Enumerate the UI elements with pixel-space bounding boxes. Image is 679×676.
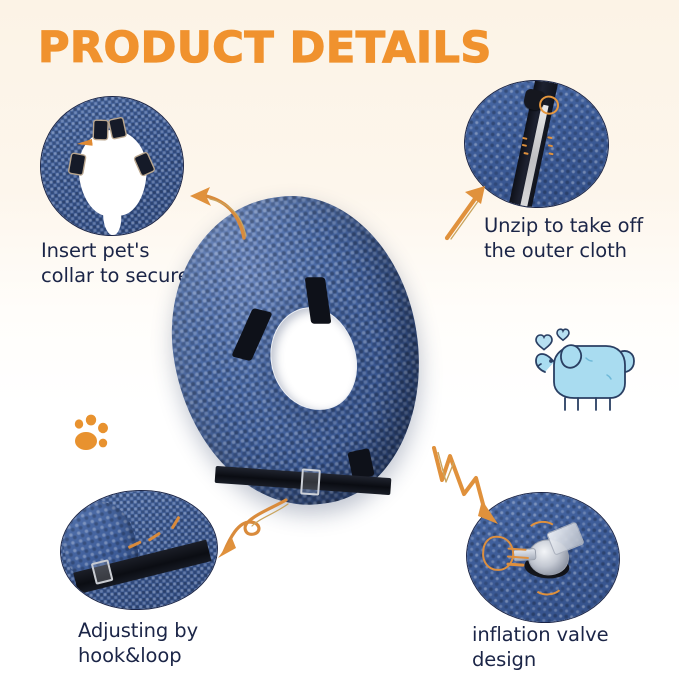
callout-caption-hook-and-loop: Adjusting by hook&loop xyxy=(78,618,198,668)
arrow-bottom-right-icon xyxy=(420,446,504,530)
heart-icon xyxy=(536,329,569,349)
product-image-inflatable-collar xyxy=(174,196,418,506)
callout-caption-unzip-cloth: Unzip to take off the outer cloth xyxy=(484,213,643,263)
paw-print-icon xyxy=(70,412,116,456)
callout-caption-inflation-valve: inflation valve design xyxy=(472,622,609,672)
arrow-top-right-icon xyxy=(441,182,493,242)
dog-icon xyxy=(524,318,646,422)
callout-caption-insert-collar: Insert pet's collar to secure xyxy=(41,238,190,288)
zipper-stitch xyxy=(549,152,554,155)
product-details-infographic: PRODUCT DETAILS Insert pet's collar to s… xyxy=(0,0,679,676)
collar-loop xyxy=(94,121,107,139)
page-title: PRODUCT DETAILS xyxy=(38,22,492,74)
callout-image-insert-collar xyxy=(33,89,191,243)
arrow-bottom-left-icon xyxy=(216,494,292,564)
strap-buckle xyxy=(300,468,320,495)
arrow-top-left-icon xyxy=(186,182,252,240)
